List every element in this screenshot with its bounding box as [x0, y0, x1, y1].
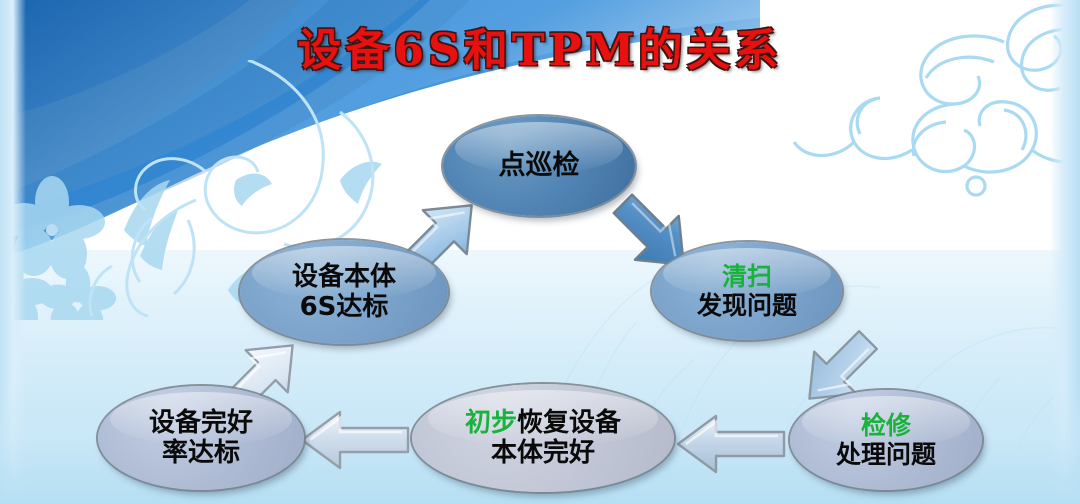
node-equipment-6s-line-1: 设备本体 [292, 262, 396, 292]
page-title: 设备6S和TPM的关系 [0, 14, 1080, 78]
node-integrity-rate[interactable]: 设备完好 率达标 [98, 386, 304, 490]
node-initial-restore[interactable]: 初步恢复设备 本体完好 [412, 384, 674, 492]
node-repair-highlight: 检修 [861, 411, 911, 440]
node-cleaning[interactable]: 清扫 发现问题 [652, 242, 842, 340]
node-cleaning-highlight: 清扫 [722, 262, 772, 291]
node-initial-restore-line-2: 本体完好 [491, 438, 595, 468]
node-inspection-line-1: 点巡检 [499, 150, 580, 181]
slide-canvas: 设备6S和TPM的关系 [0, 0, 1080, 504]
node-equipment-6s-line-2: 6S达标 [300, 292, 389, 322]
node-integrity-rate-line-2: 率达标 [162, 438, 240, 468]
node-initial-restore-line-1-plain: 恢复设备 [517, 408, 621, 438]
node-repair[interactable]: 检修 处理问题 [790, 390, 982, 490]
arrow-left-to-initial-restore [672, 408, 792, 480]
node-integrity-rate-line-1: 设备完好 [149, 408, 253, 438]
node-cleaning-line-2: 发现问题 [697, 291, 797, 320]
node-initial-restore-highlight: 初步 [465, 408, 517, 438]
node-inspection[interactable]: 点巡检 [443, 116, 635, 216]
node-repair-line-2: 处理问题 [836, 440, 936, 469]
node-initial-restore-line-1: 初步恢复设备 [465, 408, 621, 438]
node-equipment-6s[interactable]: 设备本体 6S达标 [240, 240, 448, 344]
